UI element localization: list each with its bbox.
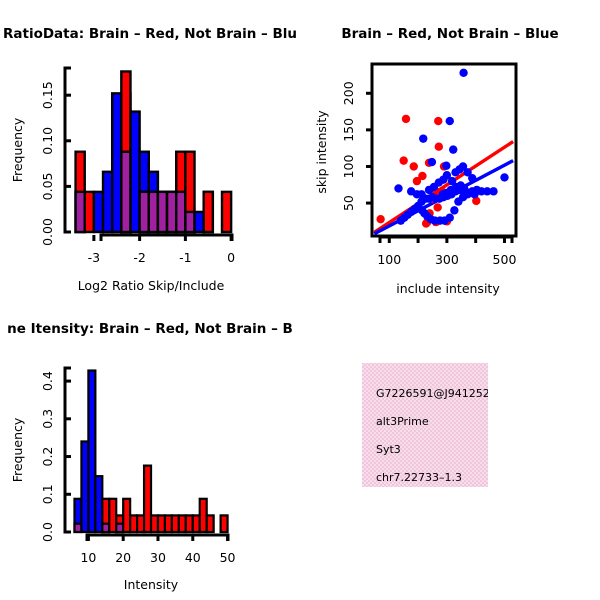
histogram-bar-not-brain [130, 112, 139, 232]
scatter-point-not-brain [394, 184, 402, 192]
ratio-histogram-y-axis: 0.000.050.100.15 [40, 68, 71, 246]
x-tick-label: 100 [377, 252, 401, 267]
x-tick-label: -2 [133, 250, 145, 265]
y-tick-label: 0.3 [40, 409, 55, 429]
scatter-point-not-brain [470, 190, 478, 198]
y-tick-label: 0.05 [40, 172, 55, 200]
scatter-point-brain [402, 115, 410, 123]
x-tick-label: 10 [80, 550, 96, 565]
x-tick-label: -3 [88, 250, 100, 265]
scatter-point-not-brain [450, 206, 458, 214]
scatter-point-brain [434, 117, 442, 125]
histogram-bar-brain [207, 515, 214, 532]
x-tick-label: 0 [227, 250, 235, 265]
y-tick-label: 0.2 [40, 447, 55, 467]
intensity-scatter-title: Brain – Red, Not Brain – Blue [341, 26, 558, 42]
scatter-point-not-brain [500, 173, 508, 181]
y-tick-label: 0.10 [40, 127, 55, 155]
gene-intensity-xlabel: Intensity [124, 577, 179, 592]
scatter-point-not-brain [446, 117, 454, 125]
y-tick-label: 0.4 [40, 371, 55, 391]
y-tick-label: 0.0 [40, 522, 55, 542]
scatter-y-axis: 50100150200 [341, 81, 372, 211]
histogram-bar-overlap [185, 212, 194, 232]
scatter-point-brain [399, 156, 407, 164]
scatter-point-brain [413, 177, 421, 185]
x-tick-label: 20 [115, 550, 131, 565]
histogram-bar-overlap [76, 192, 85, 232]
scatter-points [376, 69, 508, 228]
panel-ratio-histogram: RatioData: Brain – Red, Not Brain – Blu … [0, 0, 300, 300]
scatter-point-not-brain [449, 145, 457, 153]
y-tick-label: 0.1 [40, 484, 55, 504]
intensity-scatter-ylabel: skip intensity [314, 110, 329, 194]
y-tick-label: 100 [341, 154, 356, 178]
x-tick-label: 300 [435, 252, 459, 267]
gene-intensity-histogram-title: ne Itensity: Brain – Red, Not Brain – B [7, 321, 293, 337]
scatter-point-brain [376, 215, 384, 223]
y-tick-label: 200 [341, 81, 356, 105]
intensity-scatter-xlabel: include intensity [396, 281, 500, 296]
y-tick-label: 0.15 [40, 81, 55, 109]
figure-canvas: RatioData: Brain – Red, Not Brain – Blu … [0, 0, 600, 600]
histogram-bar-not-brain [94, 192, 103, 232]
ratio-histogram-title: RatioData: Brain – Red, Not Brain – Blu [3, 26, 297, 42]
x-tick-label: 500 [493, 252, 517, 267]
ratio-histogram-svg: RatioData: Brain – Red, Not Brain – Blu … [0, 0, 300, 300]
panel-gene-intensity-histogram: ne Itensity: Brain – Red, Not Brain – B … [0, 300, 300, 600]
intensity-scatter-svg: Brain – Red, Not Brain – Blue 5010015020… [300, 0, 600, 300]
scatter-point-not-brain [446, 214, 454, 222]
y-tick-label: 50 [341, 195, 356, 211]
ratio-histogram-ylabel: Frequency [10, 117, 25, 182]
scatter-point-not-brain [397, 216, 405, 224]
histogram-bar-overlap [176, 192, 185, 232]
gene-info-line-1: G7226591@J941252@j_ [376, 387, 510, 400]
gene-info-line-3: Syt3 [376, 443, 401, 456]
y-tick-label: 0.00 [40, 218, 55, 246]
scatter-x-axis: 100300500 [377, 237, 516, 267]
histogram-bar-brain [204, 192, 213, 232]
scatter-point-not-brain [442, 162, 450, 170]
panel-gene-info: G7226591@J941252@j_alt3PrimeSyt3chr7.227… [300, 300, 600, 600]
histogram-bar-brain [85, 192, 94, 232]
y-axis-line [65, 68, 71, 232]
histogram-bar-overlap [140, 192, 149, 232]
gene-intensity-ylabel: Frequency [10, 417, 25, 482]
histogram-bar-not-brain [195, 212, 204, 232]
x-tick-label: 50 [220, 550, 236, 565]
gene-info-svg: G7226591@J941252@j_alt3PrimeSyt3chr7.227… [300, 300, 600, 600]
y-tick-label: 150 [341, 118, 356, 142]
scatter-point-not-brain [489, 187, 497, 195]
histogram-bar-overlap [167, 192, 176, 232]
histogram-bar-overlap [149, 192, 158, 232]
x-tick-label: 30 [150, 550, 166, 565]
plot-box-frame [372, 64, 516, 236]
scatter-point-brain [433, 203, 441, 211]
histogram-bar-overlap [121, 152, 130, 232]
ratio-histogram-bars [76, 71, 232, 232]
histogram-bar-not-brain [112, 93, 121, 232]
x-tick-label: 40 [185, 550, 201, 565]
scatter-point-not-brain [428, 158, 436, 166]
gene-info-line-4: chr7.22733–1.3 [376, 471, 462, 484]
x-tick-label: -1 [179, 250, 191, 265]
gene-intensity-y-axis: 0.00.10.20.30.4 [40, 368, 71, 542]
gene-intensity-x-axis: 1020304050 [80, 535, 235, 565]
histogram-bar-brain [221, 515, 228, 532]
histogram-bar-not-brain [103, 172, 112, 232]
gene-info-pval: Pval: 2.000000 [376, 499, 459, 512]
histogram-bar-overlap [158, 192, 167, 232]
histogram-bar-brain [222, 192, 231, 232]
y-axis-line [65, 368, 71, 532]
gene-intensity-histogram-svg: ne Itensity: Brain – Red, Not Brain – B … [0, 300, 300, 600]
ratio-histogram-xlabel: Log2 Ratio Skip/Include [78, 278, 225, 293]
gene-info-line-2: alt3Prime [376, 415, 429, 428]
scatter-point-brain [435, 143, 443, 151]
panel-intensity-scatter: Brain – Red, Not Brain – Blue 5010015020… [300, 0, 600, 300]
scatter-point-not-brain [419, 134, 427, 142]
x-axis-line [101, 235, 232, 241]
scatter-point-not-brain [468, 174, 476, 182]
gene-intensity-histogram-bars [74, 371, 227, 532]
scatter-point-not-brain [459, 69, 467, 77]
scatter-point-brain [410, 162, 418, 170]
ratio-histogram-x-axis: -3-2-10 [88, 235, 236, 265]
